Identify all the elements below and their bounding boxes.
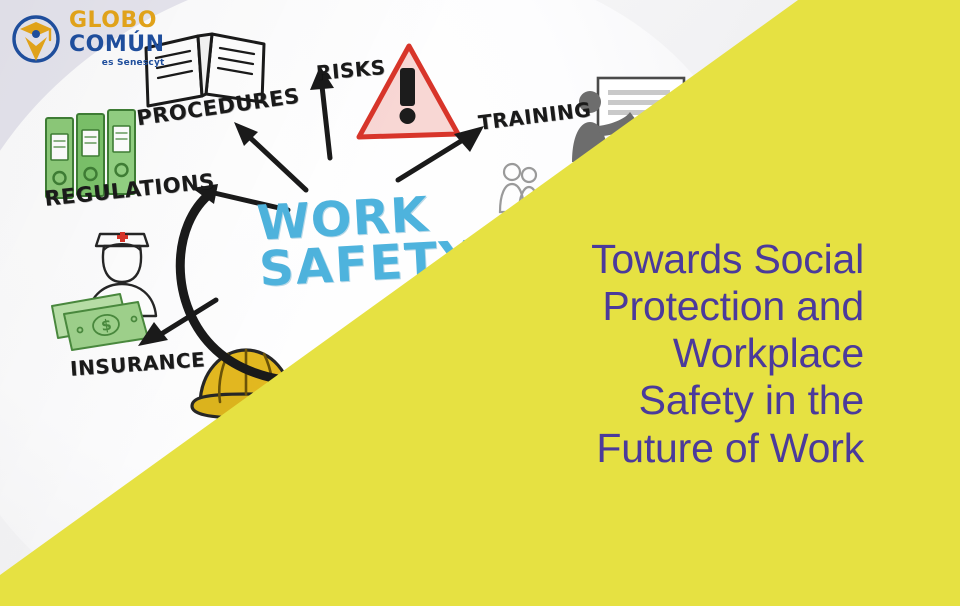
title-line-4: Safety in the (500, 377, 864, 424)
logo-wordmark: GLOBO COMÚN es Senescyt (69, 10, 165, 68)
logo-tagline: es Senescyt (69, 59, 165, 68)
title-line-5: Future of Work (500, 425, 864, 472)
promo-banner: $ (0, 0, 960, 606)
globo-comun-logo[interactable]: GLOBO COMÚN es Senescyt (10, 10, 165, 68)
title-line-1: Towards Social (500, 236, 864, 283)
title-line-3: Workplace (500, 330, 864, 377)
page-title: Towards Social Protection and Workplace … (500, 236, 864, 472)
title-line-2: Protection and (500, 283, 864, 330)
graduation-cap-circle-icon (10, 13, 62, 65)
logo-line-globo: GLOBO (69, 10, 165, 32)
logo-line-comun: COMÚN (69, 34, 165, 56)
